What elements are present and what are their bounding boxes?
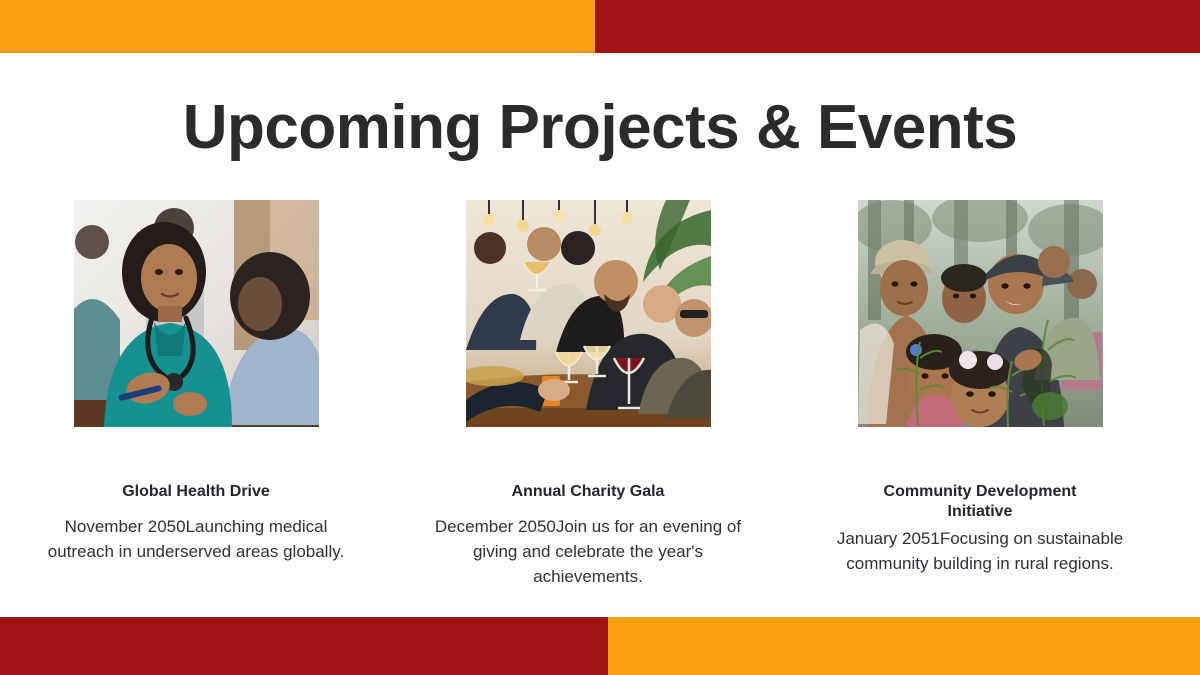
children-holding-tree-saplings-forest-photo [858, 200, 1103, 427]
project-card-description: January 2051Focusing on sustainable comm… [830, 526, 1130, 576]
project-card-description: December 2050Join us for an evening of g… [423, 514, 753, 589]
bottom-decorative-bar [0, 617, 1200, 675]
page-title: Upcoming Projects & Events [0, 92, 1200, 164]
project-cards-row: Global Health Drive November 2050Launchi… [0, 200, 1200, 589]
project-card[interactable]: Community Development Initiative January… [784, 200, 1176, 589]
project-card-description: November 2050Launching medical outreach … [40, 514, 352, 564]
top-bar-red-segment [595, 0, 1200, 53]
project-card[interactable]: Global Health Drive November 2050Launchi… [0, 200, 392, 589]
project-card-title: Global Health Drive [71, 482, 321, 502]
project-card-title: Community Development Initiative [866, 482, 1094, 522]
group-toasting-wine-glasses-dinner-photo [466, 200, 711, 427]
top-bar-orange-segment [0, 0, 595, 53]
project-card[interactable]: Annual Charity Gala December 2050Join us… [392, 200, 784, 589]
bottom-bar-red-segment [0, 617, 608, 675]
bottom-bar-orange-segment [608, 617, 1200, 675]
healthcare-worker-consulting-patient-photo [74, 200, 319, 427]
top-decorative-bar [0, 0, 1200, 53]
project-card-title: Annual Charity Gala [463, 482, 713, 502]
